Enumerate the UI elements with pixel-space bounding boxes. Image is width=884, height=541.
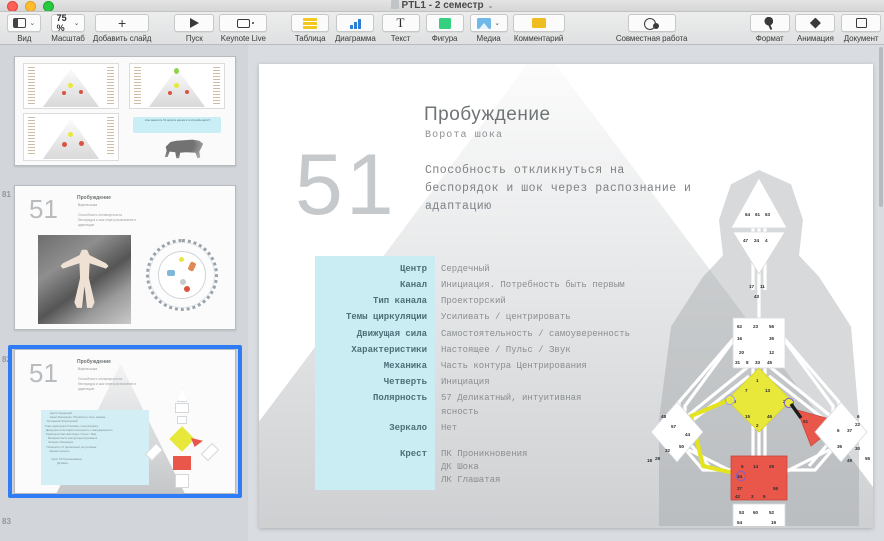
chevron-down-icon: ⌄	[29, 20, 35, 27]
collaborate-icon	[644, 18, 659, 29]
thumb83-title: Пробуждение	[77, 359, 111, 365]
svg-text:18: 18	[647, 458, 653, 463]
toolbar-label-keynote-live: Keynote Live	[221, 34, 266, 43]
svg-text:5: 5	[741, 464, 744, 469]
toolbar-button-collaborate[interactable]: Совместная работа	[615, 12, 687, 43]
toolbar-button-keynote-live[interactable]: Keynote Live	[217, 12, 269, 43]
svg-text:2: 2	[756, 423, 759, 428]
svg-text:4: 4	[765, 238, 768, 243]
toolbar-label-media: Медиа	[477, 34, 501, 43]
table-key: Канал	[315, 277, 433, 293]
svg-text:44: 44	[685, 432, 691, 437]
toolbar-button-chart[interactable]: Диаграмма	[332, 12, 378, 43]
toolbar-label-text: Текст	[391, 34, 411, 43]
thumb83-subtitle: Ворота шока	[78, 367, 97, 371]
svg-text:50: 50	[679, 444, 685, 449]
toolbar-label-animate: Анимация	[797, 34, 834, 43]
animate-icon	[810, 18, 821, 29]
table-value: 57 Деликатный, интуитивная ясность	[441, 391, 630, 420]
format-brush-icon	[764, 17, 776, 29]
svg-text:7: 7	[745, 388, 748, 393]
thumb81-callout-text: - Как заметить 51 ворота меняя в этой ре…	[133, 117, 221, 125]
svg-text:30: 30	[855, 446, 861, 451]
toolbar-label-chart: Диаграмма	[335, 34, 376, 43]
svg-text:6: 6	[837, 428, 840, 433]
svg-text:3: 3	[751, 494, 754, 499]
table-value: Усиливать / центрировать	[441, 310, 630, 326]
toolbar-button-table[interactable]: Таблица	[288, 12, 332, 43]
thumb81-panel-2	[129, 63, 225, 109]
thumbnail-number-83: 83	[2, 517, 11, 526]
toolbar-button-comment[interactable]: Комментарий	[511, 12, 567, 43]
svg-text:19: 19	[771, 520, 777, 525]
svg-text:63: 63	[765, 212, 771, 217]
svg-text:47: 47	[743, 238, 749, 243]
svg-text:64: 64	[745, 212, 751, 217]
svg-text:22: 22	[855, 422, 861, 427]
toolbar-button-add-slide[interactable]: + Добавить слайд	[91, 12, 152, 43]
svg-text:51: 51	[803, 419, 809, 424]
svg-text:57: 57	[671, 424, 677, 429]
keynote-window: PTL1 - 2 семестр⌄ ⌄ Вид 75 %⌄ Масштаб + …	[0, 0, 884, 541]
toolbar-button-document[interactable]: Документ	[838, 12, 884, 43]
svg-text:11: 11	[760, 284, 765, 289]
svg-text:61: 61	[755, 212, 761, 217]
slide-canvas[interactable]: 51 Пробуждение Ворота шока Способность о…	[248, 45, 884, 541]
ram-illustration	[159, 133, 207, 163]
svg-text:43: 43	[754, 294, 760, 299]
chevron-down-icon: ⌄	[74, 20, 80, 27]
table-key: Четверть	[315, 375, 433, 391]
svg-text:59: 59	[773, 486, 779, 491]
media-icon	[477, 18, 491, 29]
plus-icon: +	[118, 17, 126, 29]
table-key: Крест	[315, 436, 433, 489]
toolbar-button-animate[interactable]: Анимация	[793, 12, 839, 43]
table-value: Инициация	[441, 375, 630, 391]
svg-text:46: 46	[767, 414, 773, 419]
slide-navigator[interactable]: 81	[0, 45, 248, 541]
toolbar-label-comment: Комментарий	[514, 34, 563, 43]
svg-text:15: 15	[745, 414, 751, 419]
toolbar-label-table: Таблица	[295, 34, 326, 43]
svg-text:48: 48	[661, 414, 667, 419]
slide-number-graphic: 51	[295, 142, 397, 228]
chevron-down-icon[interactable]: ⌄	[488, 3, 494, 10]
thumb82-subtitle: Ворота шока	[78, 203, 97, 207]
svg-text:60: 60	[753, 510, 759, 515]
svg-text:55: 55	[865, 456, 871, 461]
table-value: Инициация. Потребность быть первым	[441, 277, 630, 293]
chart-icon	[350, 18, 361, 29]
current-slide[interactable]: 51 Пробуждение Ворота шока Способность о…	[259, 64, 873, 528]
toolbar-button-view[interactable]: ⌄ Вид	[4, 12, 45, 43]
svg-text:24: 24	[754, 238, 760, 243]
document-icon	[391, 0, 399, 9]
svg-text:12: 12	[769, 350, 775, 355]
table-key: Полярность	[315, 391, 433, 420]
table-value: Сердечный	[441, 261, 630, 277]
table-value: Нет	[441, 420, 630, 436]
comment-icon	[532, 18, 546, 28]
toolbar-label-play: Пуск	[186, 34, 203, 43]
table-value: Часть контура Центрирования	[441, 358, 630, 374]
toolbar-button-zoom[interactable]: 75 %⌄ Масштаб	[45, 12, 92, 43]
keynote-live-icon	[237, 19, 250, 28]
svg-text:9: 9	[763, 494, 766, 499]
table-key: Центр	[315, 261, 433, 277]
svg-text:52: 52	[769, 510, 775, 515]
svg-text:13: 13	[765, 388, 771, 393]
toolbar-button-play[interactable]: Пуск	[171, 12, 217, 43]
vertical-scrollbar[interactable]	[879, 47, 883, 207]
thumb83-slide-number: 51	[29, 360, 58, 386]
svg-text:36: 36	[837, 444, 843, 449]
svg-text:31: 31	[735, 360, 741, 365]
window-title: PTL1 - 2 семестр⌄	[0, 0, 884, 12]
svg-text:33: 33	[755, 360, 761, 365]
svg-text:20: 20	[739, 350, 745, 355]
svg-text:45: 45	[767, 360, 773, 365]
svg-text:32: 32	[665, 448, 671, 453]
document-panel-icon	[856, 18, 867, 28]
svg-text:35: 35	[769, 336, 775, 341]
view-icon	[13, 18, 26, 28]
text-icon: T	[397, 17, 405, 29]
svg-text:23: 23	[753, 324, 759, 329]
svg-text:27: 27	[737, 486, 743, 491]
svg-text:34: 34	[737, 474, 743, 479]
thumb82-title: Пробуждение	[77, 195, 111, 201]
thumbnail-number-82: 82	[2, 355, 11, 364]
svg-text:17: 17	[749, 284, 755, 289]
thumb82-body: Способность откликнуться на беспорядок и…	[78, 213, 194, 228]
table-key: Движущая сила	[315, 326, 433, 342]
svg-text:56: 56	[769, 324, 775, 329]
toolbar-label-view: Вид	[17, 34, 31, 43]
toolbar-button-shape[interactable]: Фигура	[423, 12, 467, 43]
thumb82-slide-number: 51	[29, 196, 58, 222]
table-key: Характеристики	[315, 342, 433, 358]
toolbar-button-media[interactable]: ⌄ Медиа	[467, 12, 511, 43]
thumbnail-number-81: 81	[2, 190, 11, 199]
thumb81-callout-bubble: - Как заметить 51 ворота меняя в этой ре…	[133, 117, 221, 133]
svg-text:29: 29	[769, 464, 775, 469]
shape-icon	[439, 18, 451, 29]
window-titlebar: PTL1 - 2 семестр⌄	[0, 0, 884, 12]
toolbar-label-zoom: Масштаб	[51, 34, 85, 43]
table-value: Настоящее / Пульс / Звук	[441, 342, 630, 358]
slide-title: Пробуждение	[424, 104, 551, 126]
thumb81-panel-3	[23, 113, 119, 161]
attribute-table: Центр Сердечный Канал Инициация. Потребн…	[315, 261, 630, 489]
svg-text:62: 62	[737, 324, 743, 329]
toolbar-label-add-slide: Добавить слайд	[93, 34, 151, 43]
table-key: Механика	[315, 358, 433, 374]
table-icon	[303, 18, 317, 29]
svg-text:8: 8	[746, 360, 749, 365]
svg-text:1: 1	[756, 378, 759, 383]
svg-text:53: 53	[739, 510, 745, 515]
toolbar-label-format: Формат	[756, 34, 784, 43]
svg-text:42: 42	[735, 494, 741, 499]
svg-text:54: 54	[737, 520, 743, 525]
chevron-down-icon: ⌄	[494, 20, 500, 27]
thumb81-panel-1	[23, 63, 119, 109]
svg-text:49: 49	[847, 458, 853, 463]
zoom-level-icon: 75 %	[57, 13, 71, 33]
table-key: Темы циркуляции	[315, 310, 433, 326]
slide-subtitle: Ворота шока	[425, 130, 503, 141]
play-icon	[190, 18, 199, 28]
table-value: Проекторский	[441, 293, 630, 309]
slide-thumbnail-83[interactable]: 51 Пробуждение Ворота шока Способность о…	[14, 349, 236, 494]
svg-text:14: 14	[753, 464, 759, 469]
thumb82-mandala-chart	[146, 239, 218, 311]
table-key: Тип канала	[315, 293, 433, 309]
toolbar-button-text[interactable]: T Текст	[379, 12, 423, 43]
toolbar-label-shape: Фигура	[432, 34, 458, 43]
thumb83-bodygraph	[143, 386, 219, 491]
toolbar-label-document: Документ	[844, 34, 879, 43]
bodygraph-svg: 64 61 63 47 24 4 17 11 43 62 23	[641, 170, 873, 526]
toolbar-button-format[interactable]: Формат	[747, 12, 793, 43]
thumb82-slackline-photo	[38, 235, 131, 324]
toolbar-label-collaborate: Совместная работа	[616, 34, 688, 43]
window-title-text: PTL1 - 2 семестр	[402, 0, 484, 11]
svg-text:6: 6	[857, 414, 860, 419]
svg-text:28: 28	[655, 456, 661, 461]
main-toolbar: ⌄ Вид 75 %⌄ Масштаб + Добавить слайд Пус…	[0, 12, 884, 45]
slide-thumbnail-81[interactable]: - Как заметить 51 ворота меняя в этой ре…	[14, 56, 236, 166]
table-value: ПК Проникновения ДК Шока ЛК Глашатая	[441, 436, 630, 489]
svg-text:16: 16	[737, 336, 743, 341]
slide-thumbnail-82[interactable]: 51 Пробуждение Ворота шока Способность о…	[14, 185, 236, 330]
table-value: Самостоятельность / самоуверенность	[441, 326, 630, 342]
bodygraph-figure: 64 61 63 47 24 4 17 11 43 62 23	[641, 170, 873, 526]
table-key: Зеркало	[315, 420, 433, 436]
svg-text:37: 37	[847, 428, 853, 433]
